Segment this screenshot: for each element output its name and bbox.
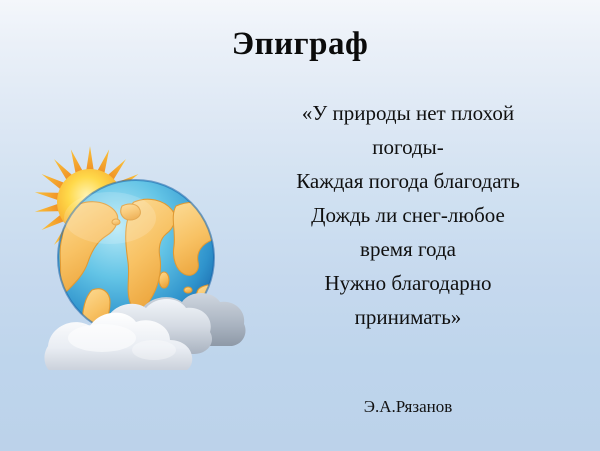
verse-line: Каждая погода благодать (243, 164, 573, 198)
slide-root: Эпиграф (0, 0, 600, 451)
verse-line: время года (243, 232, 573, 266)
verse-attribution: Э.А.Рязанов (243, 397, 573, 417)
verse-line: принимать» (243, 300, 573, 334)
epigraph-verse: «У природы нет плохой погоды- Каждая пог… (243, 96, 573, 334)
verse-line: погоды- (243, 130, 573, 164)
verse-line: «У природы нет плохой (243, 96, 573, 130)
verse-line: Нужно благодарно (243, 266, 573, 300)
page-title: Эпиграф (0, 26, 600, 63)
verse-line: Дождь ли снег-любое (243, 198, 573, 232)
sun-globe-clouds-icon (18, 140, 248, 370)
weather-illustration (18, 140, 248, 370)
